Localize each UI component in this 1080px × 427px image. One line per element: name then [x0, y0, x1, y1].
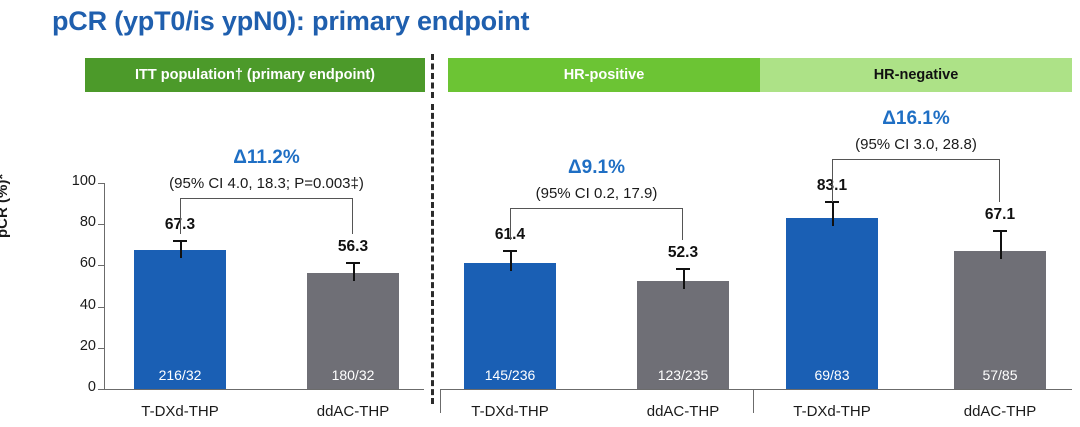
delta-value-label: Δ9.1%	[447, 157, 747, 179]
x-axis-line	[104, 389, 424, 390]
x-axis-label: T-DXd-THP	[762, 403, 902, 420]
bar-value-label: 67.1	[950, 206, 1050, 224]
error-bar-cap	[993, 230, 1007, 232]
y-tick-mark	[98, 307, 105, 308]
bar-t-dxd-thp-0: 216/32	[134, 250, 226, 389]
y-axis-line	[104, 183, 105, 389]
bar-value-label: 52.3	[633, 244, 733, 262]
bar-value-label: 56.3	[303, 238, 403, 256]
delta-ci-label: (95% CI 4.0, 18.3; P=0.003‡)	[82, 175, 452, 192]
error-bar-cap	[676, 268, 690, 270]
bar-fraction-label: 57/85	[954, 367, 1046, 383]
delta-bracket	[510, 208, 683, 240]
error-bar-cap	[173, 240, 187, 242]
y-tick-label: 20	[62, 338, 96, 354]
delta-ci-label: (95% CI 0.2, 17.9)	[412, 185, 782, 202]
delta-ci-label: (95% CI 3.0, 28.8)	[731, 136, 1080, 153]
x-axis-label: ddAC-THP	[283, 403, 423, 420]
x-axis-label: T-DXd-THP	[110, 403, 250, 420]
error-bar	[683, 268, 685, 289]
bar-t-dxd-thp-1: 145/236	[464, 263, 556, 389]
panel-separator-tick	[753, 389, 754, 413]
header-divider	[431, 54, 434, 98]
bar-ddac-thp-2: 57/85	[954, 251, 1046, 389]
delta-bracket	[832, 159, 1000, 202]
x-axis-line	[440, 389, 753, 390]
error-bar	[1000, 230, 1002, 258]
delta-value-label: Δ11.2%	[117, 147, 417, 169]
error-bar	[832, 201, 834, 226]
bar-ddac-thp-1: 123/235	[637, 281, 729, 389]
y-tick-label: 60	[62, 255, 96, 271]
error-bar-cap	[503, 250, 517, 252]
bar-ddac-thp-0: 180/32	[307, 273, 399, 389]
panel-header-itt: ITT population† (primary endpoint)	[85, 58, 425, 92]
bar-fraction-label: 123/235	[637, 367, 729, 383]
slide-root: pCR (ypT0/is ypN0): primary endpoint ITT…	[0, 0, 1080, 427]
error-bar	[353, 262, 355, 281]
panel-header-hr-negative: HR-negative	[760, 58, 1072, 92]
error-bar	[180, 240, 182, 259]
x-axis-label: T-DXd-THP	[440, 403, 580, 420]
y-tick-label: 0	[62, 379, 96, 395]
bar-t-dxd-thp-2: 69/83	[786, 218, 878, 389]
y-tick-mark	[98, 265, 105, 266]
y-axis-title: pCR (%)*	[0, 174, 11, 238]
panel-header-hr-positive: HR-positive	[448, 58, 760, 92]
delta-value-label: Δ16.1%	[766, 108, 1066, 130]
x-axis-label: ddAC-THP	[613, 403, 753, 420]
y-tick-mark	[98, 224, 105, 225]
plot-divider-itt	[431, 104, 434, 404]
bar-fraction-label: 69/83	[786, 367, 878, 383]
bar-fraction-label: 216/32	[134, 367, 226, 383]
error-bar	[510, 250, 512, 271]
delta-bracket	[180, 198, 353, 234]
y-tick-mark	[98, 348, 105, 349]
error-bar-cap	[346, 262, 360, 264]
page-title: pCR (ypT0/is ypN0): primary endpoint	[52, 6, 529, 37]
x-axis-line	[753, 389, 1072, 390]
bar-fraction-label: 145/236	[464, 367, 556, 383]
bar-fraction-label: 180/32	[307, 367, 399, 383]
x-axis-label: ddAC-THP	[930, 403, 1070, 420]
y-tick-label: 80	[62, 214, 96, 230]
y-tick-label: 40	[62, 297, 96, 313]
